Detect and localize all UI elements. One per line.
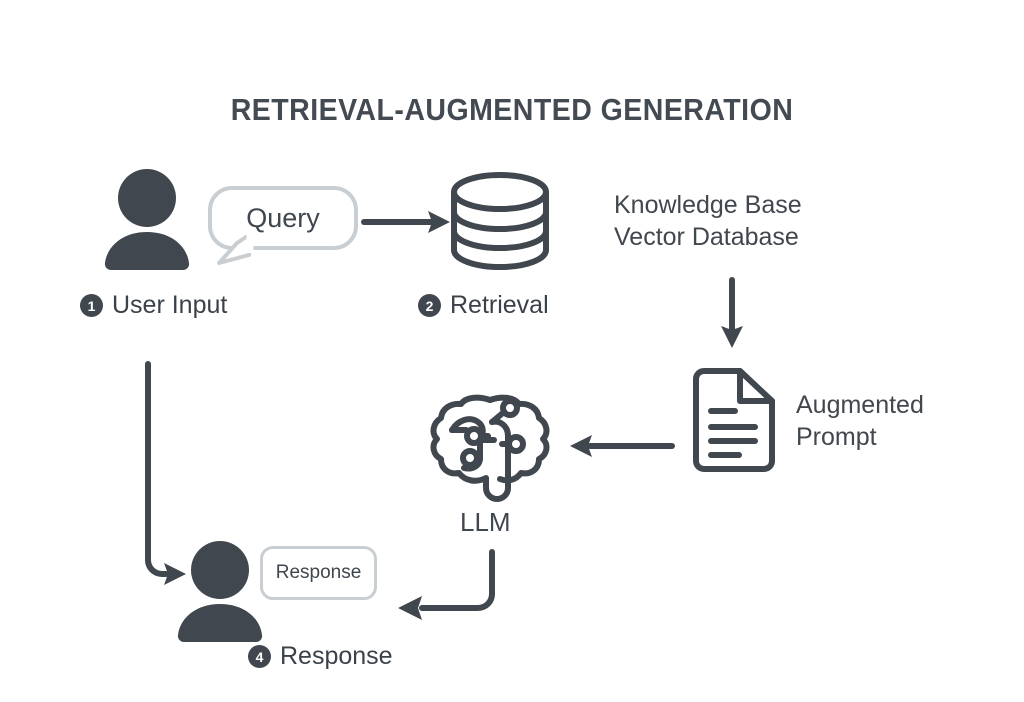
query-bubble-text: Query: [246, 203, 320, 234]
response-bubble: Response: [260, 546, 377, 600]
knowledge-base-line-2: Vector Database: [614, 221, 802, 253]
brain-icon: [428, 392, 552, 496]
step-text-retrieval: Retrieval: [450, 291, 549, 320]
knowledge-base-label: Knowledge Base Vector Database: [614, 189, 802, 253]
step-badge-4: 4: [248, 645, 271, 668]
augmented-prompt-line-2: Prompt: [796, 421, 924, 453]
step-badge-1: 1: [80, 294, 103, 317]
query-bubble: Query: [208, 186, 358, 250]
diagram-canvas: RETRIEVAL-AUGMENTED GENERATION Query 1 U…: [0, 0, 1024, 702]
augmented-prompt-line-1: Augmented: [796, 389, 924, 421]
step-label-retrieval: 2 Retrieval: [418, 291, 549, 320]
arrow-knowledgebase-to-document: [715, 278, 749, 352]
augmented-prompt-label: Augmented Prompt: [796, 389, 924, 453]
page-title: RETRIEVAL-AUGMENTED GENERATION: [41, 92, 983, 128]
step-badge-2: 2: [418, 294, 441, 317]
step-label-response: 4 Response: [248, 642, 393, 671]
query-bubble-tail: [217, 233, 251, 263]
arrow-query-to-database: [362, 206, 454, 238]
step-text-response: Response: [280, 642, 393, 671]
user-response-icon: [176, 540, 264, 640]
document-icon: [692, 367, 776, 473]
knowledge-base-line-1: Knowledge Base: [614, 189, 802, 221]
database-icon: [448, 170, 552, 272]
step-label-user-input: 1 User Input: [80, 291, 227, 320]
arrow-llm-to-response: [392, 548, 508, 628]
llm-label: LLM: [460, 506, 511, 539]
response-bubble-text: Response: [276, 562, 362, 584]
arrow-document-to-llm: [566, 430, 674, 462]
step-text-user-input: User Input: [112, 291, 227, 320]
user-icon: [103, 168, 191, 268]
